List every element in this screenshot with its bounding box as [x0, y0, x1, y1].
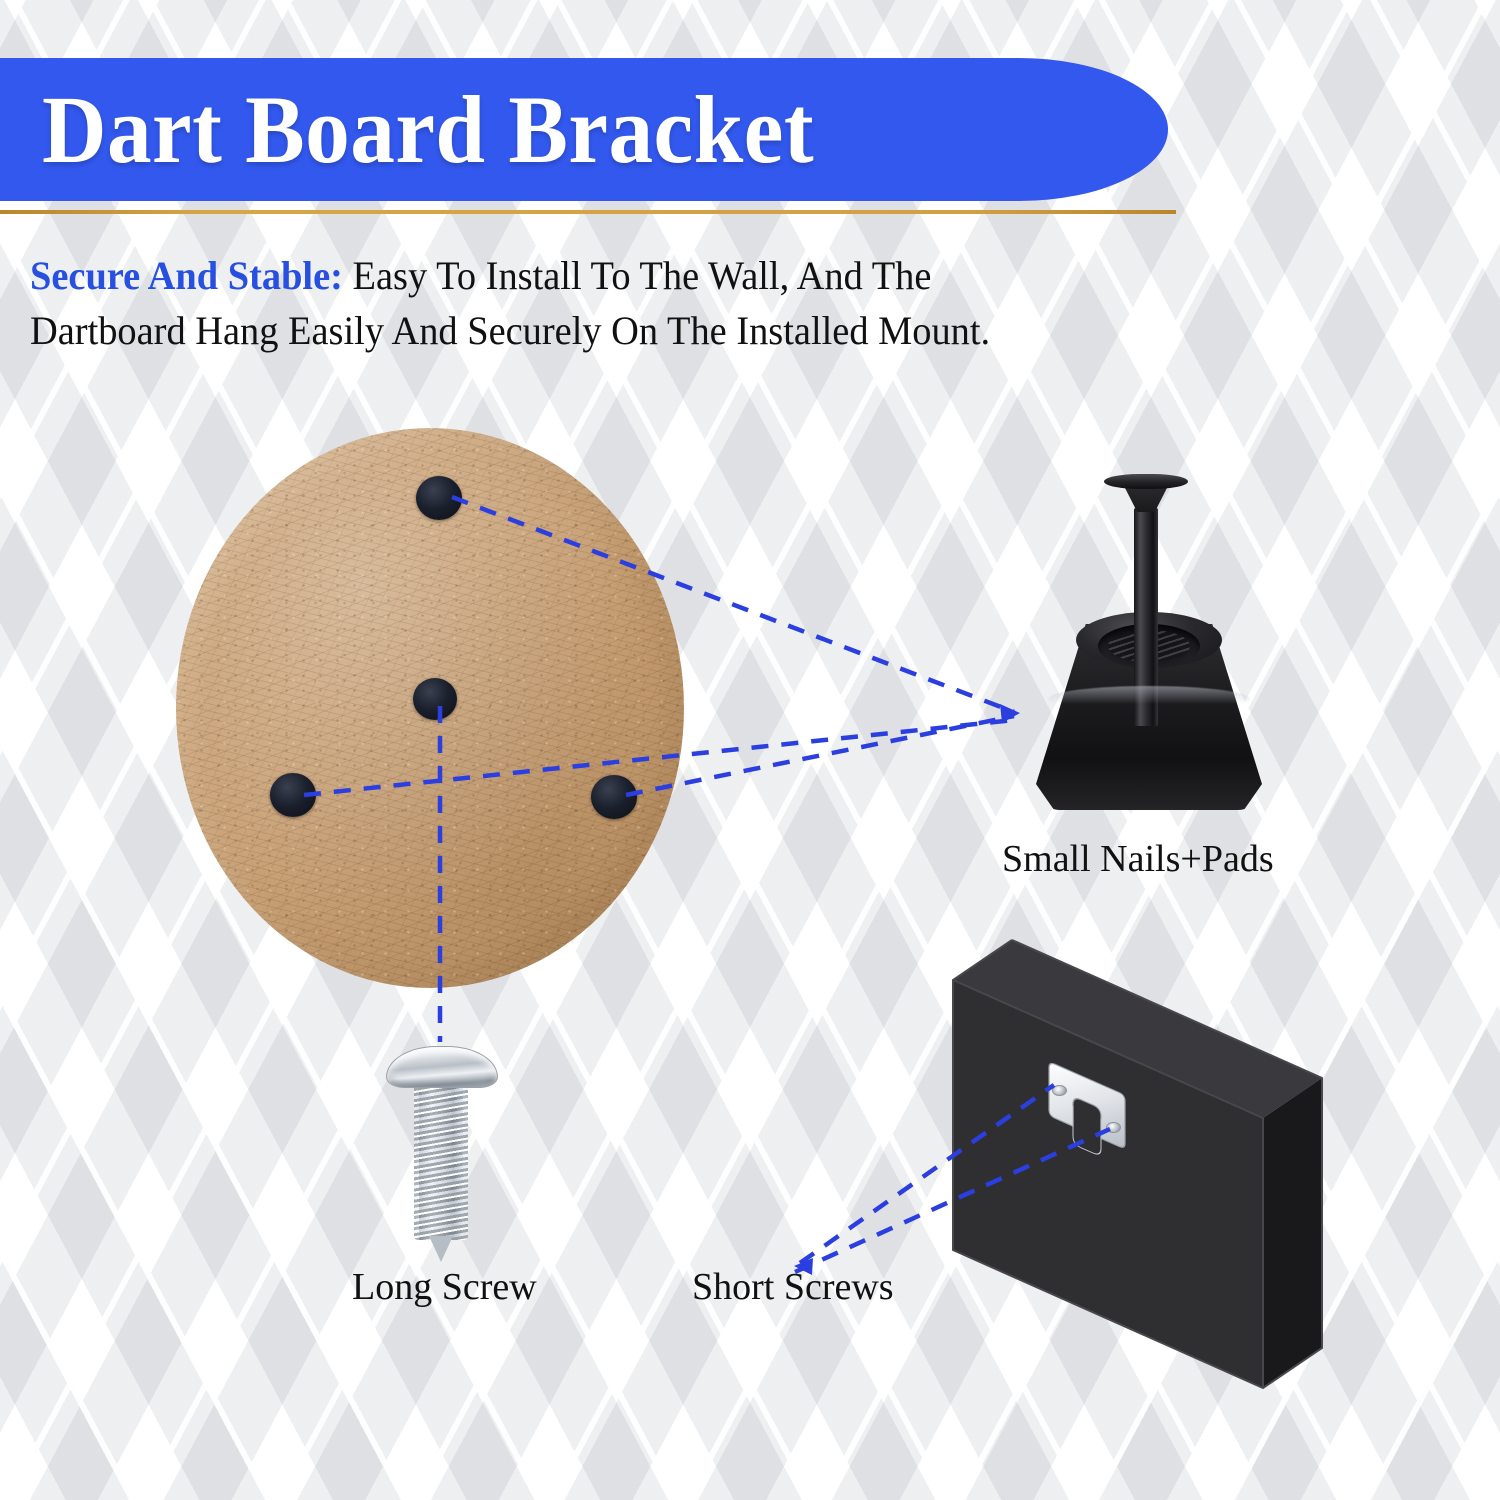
left-hole: [270, 773, 316, 817]
center-hole: [413, 678, 457, 720]
nail-neck: [1124, 486, 1168, 512]
title-banner: Dart Board Bracket: [0, 58, 1168, 201]
label-long-screw: Long Screw: [352, 1268, 537, 1306]
u-shaped-hanger-bracket: [1043, 1059, 1135, 1167]
long-screw-graphic: [386, 1046, 496, 1262]
page-title: Dart Board Bracket: [42, 82, 814, 178]
feature-description: Secure And Stable: Easy To Install To Th…: [30, 248, 1076, 358]
screw-threads: [414, 1080, 468, 1240]
rubber-pad-rim-highlight: [1048, 686, 1250, 712]
leader-arrowhead-pad: [1000, 704, 1020, 723]
bracket-screw-top-left: [1052, 1085, 1067, 1096]
label-small-nails-pads: Small Nails+Pads: [1002, 840, 1274, 878]
label-short-screws: Short Screws: [692, 1268, 894, 1306]
top-hole: [416, 476, 462, 520]
gold-divider-rule: [0, 210, 1176, 214]
small-nail-and-pad-graphic: [1024, 474, 1268, 810]
right-hole: [591, 775, 637, 819]
wall-panel-graphic: [910, 918, 1350, 1418]
dartboard-mdf-backing-disc: [176, 428, 684, 988]
bracket-screw-bottom-right: [1106, 1122, 1121, 1133]
leader-right-hole-to-pad: [626, 716, 1014, 795]
screw-tip: [429, 1236, 453, 1262]
nail-head: [1104, 474, 1188, 489]
screw-head: [386, 1046, 498, 1088]
feature-headline: Secure And Stable:: [30, 253, 343, 298]
